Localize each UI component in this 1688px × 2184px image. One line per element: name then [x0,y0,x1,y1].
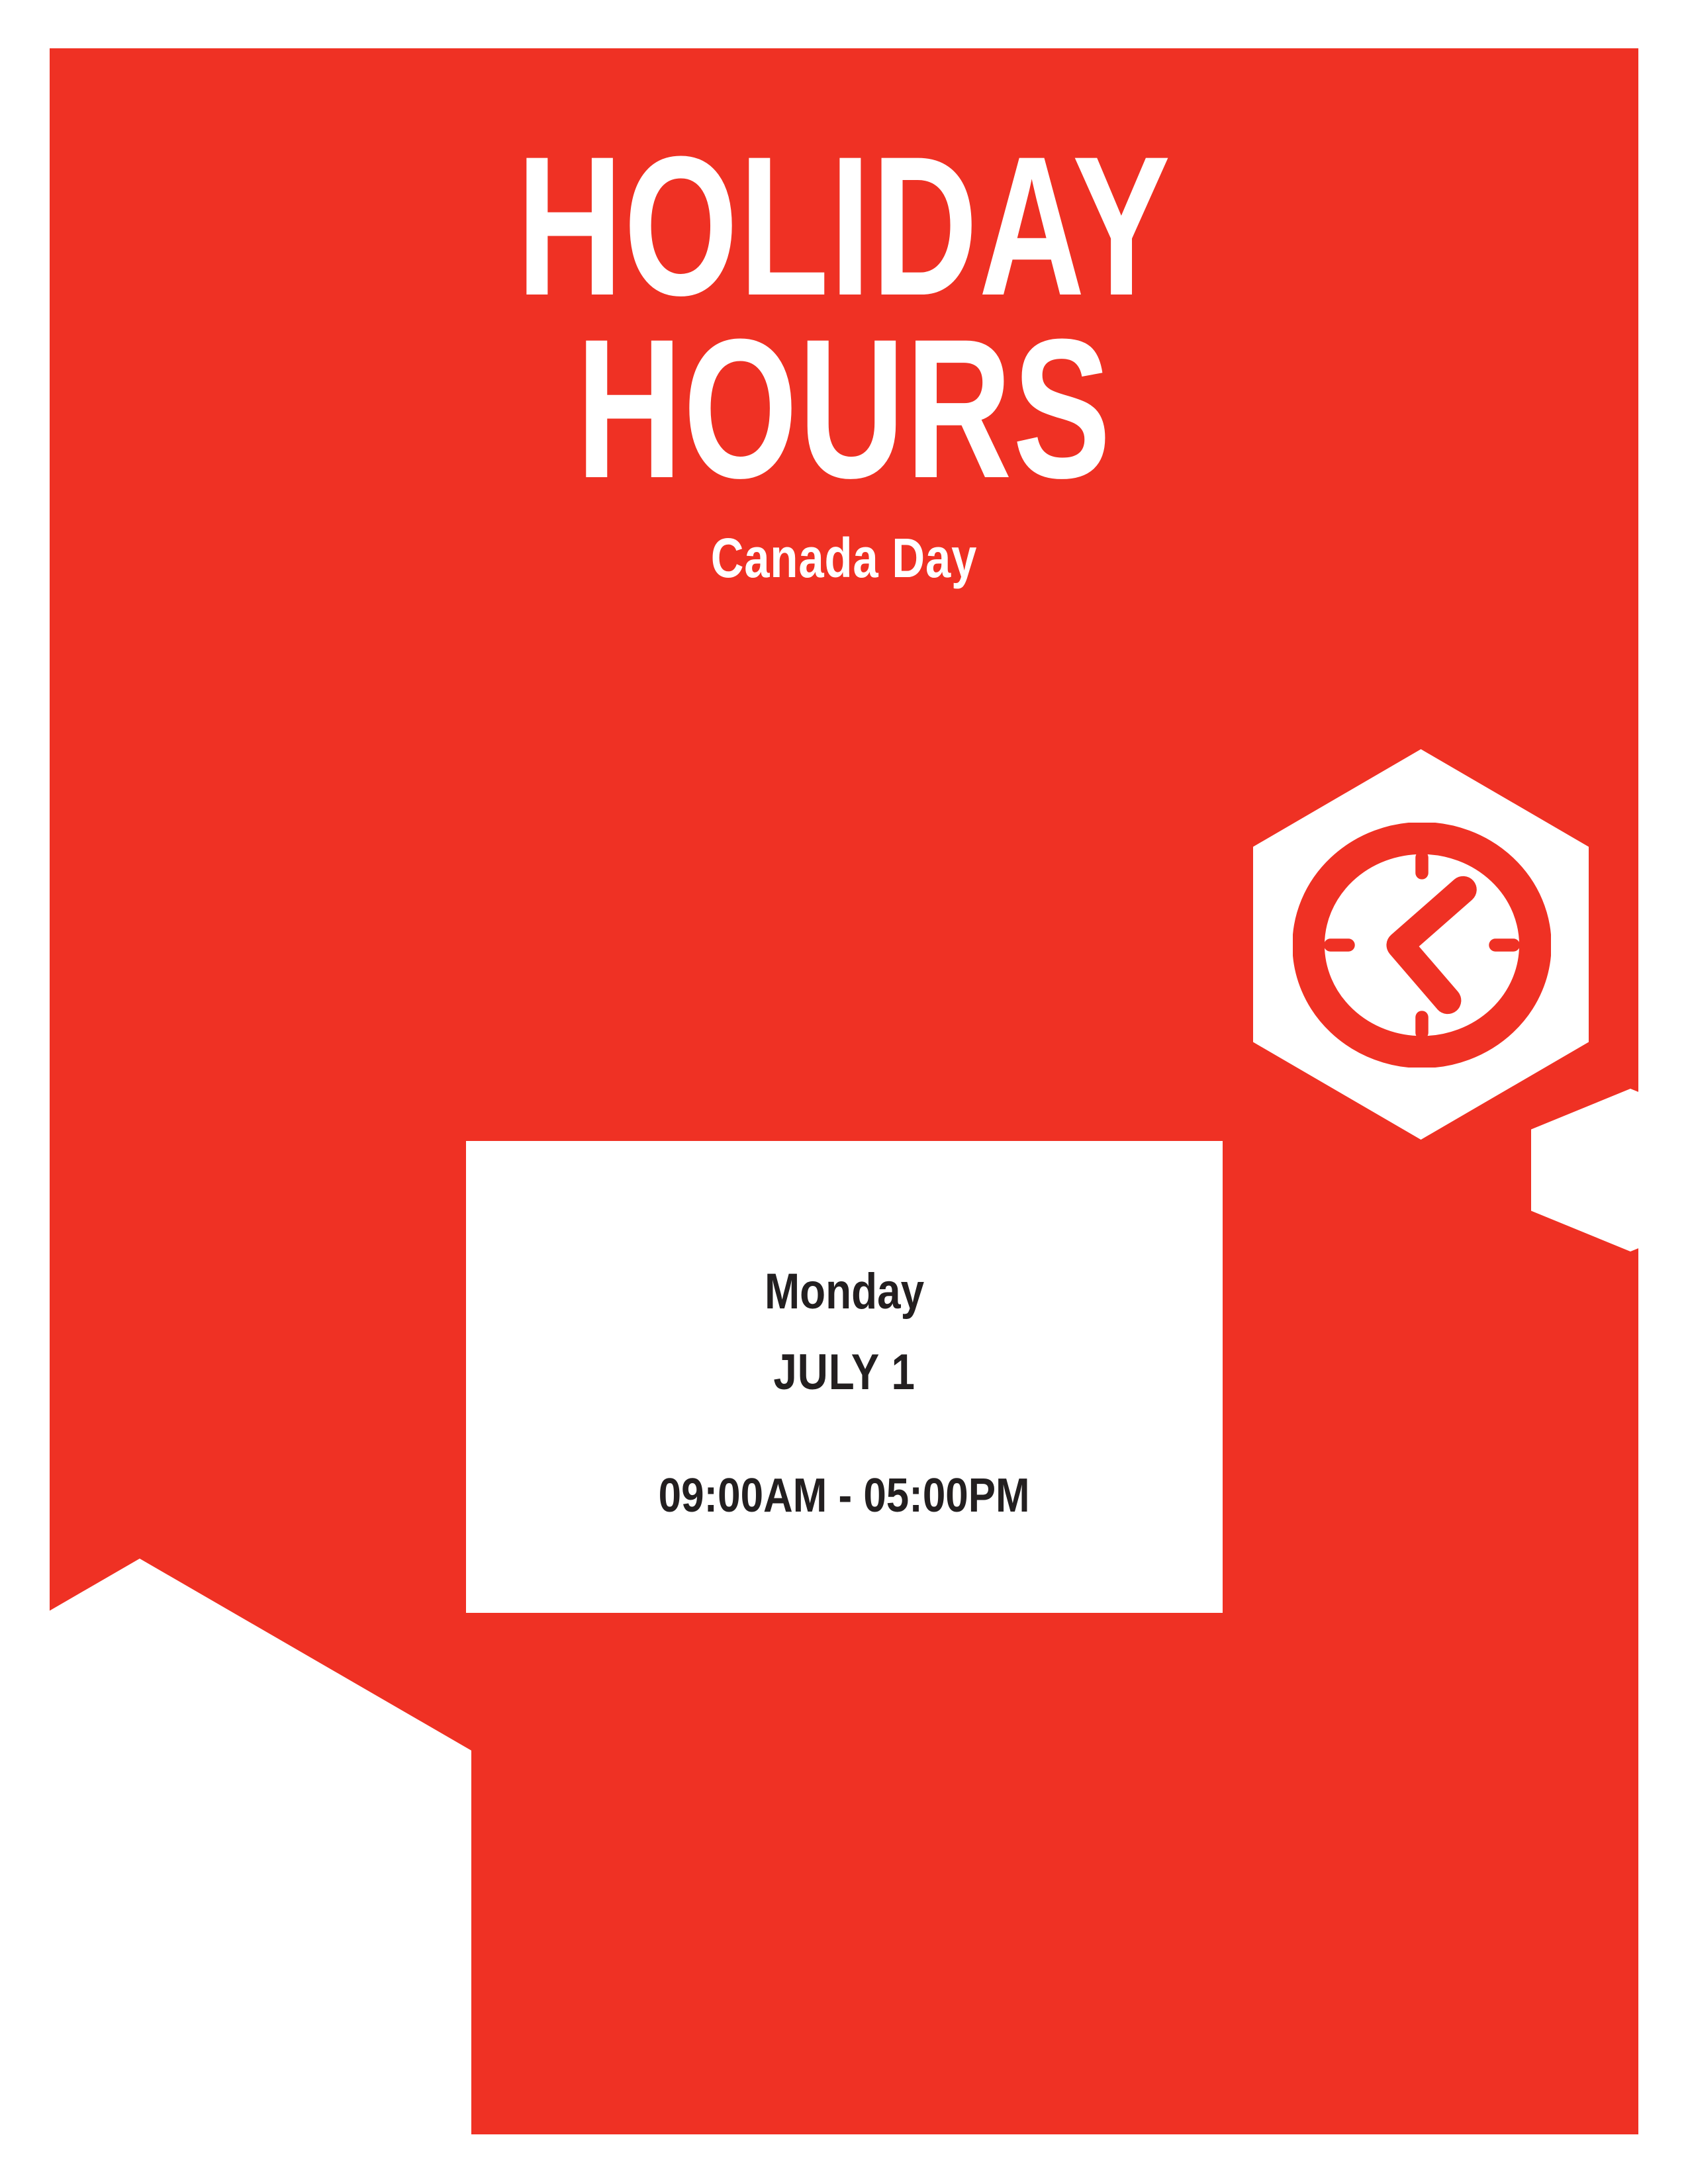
page-title-line-1: HOLIDAY [256,134,1432,317]
card-day-label: Monday [765,1267,924,1317]
card-hours-label: 09:00AM - 05:00PM [659,1472,1030,1520]
poster-title-block: HOLIDAY HOURS Canada Day [50,134,1638,586]
clock-icon [1293,823,1551,1068]
page-title-line-2: HOURS [256,317,1432,500]
card-date-label: JULY 1 [773,1347,915,1398]
hexagon-shape-bottom [50,1559,471,2134]
page-subtitle: Canada Day [193,530,1495,586]
poster-canvas: HOLIDAY HOURS Canada Day Monday JULY 1 0… [50,48,1638,2134]
hexagon-shape-right [1531,1089,1638,1251]
hours-info-card: Monday JULY 1 09:00AM - 05:00PM [466,1141,1223,1613]
